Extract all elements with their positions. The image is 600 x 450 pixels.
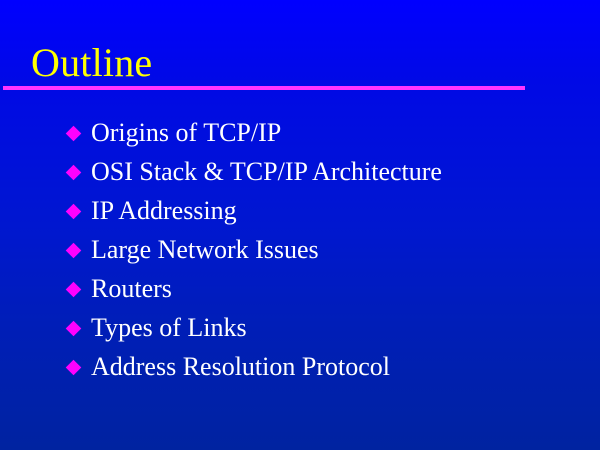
title-divider-rule [3,86,525,90]
page-title: Outline [31,40,152,86]
list-item: OSI Stack & TCP/IP Architecture [0,152,600,191]
list-item: Routers [0,269,600,308]
list-item: Types of Links [0,308,600,347]
list-item-label: Address Resolution Protocol [91,352,390,382]
list-item: Large Network Issues [0,230,600,269]
diamond-bullet-icon [66,359,82,375]
list-item-label: Origins of TCP/IP [91,118,281,148]
slide-title-block: Outline [0,40,600,90]
diamond-bullet-icon [66,125,82,141]
list-item-label: Types of Links [91,313,247,343]
diamond-bullet-icon [66,203,82,219]
list-item: Address Resolution Protocol [0,347,600,386]
list-item-label: OSI Stack & TCP/IP Architecture [91,157,442,187]
list-item: IP Addressing [0,191,600,230]
presentation-slide: Outline Origins of TCP/IP OSI Stack & TC… [0,0,600,450]
diamond-bullet-icon [66,281,82,297]
diamond-bullet-icon [66,320,82,336]
diamond-bullet-icon [66,242,82,258]
list-item: Origins of TCP/IP [0,113,600,152]
diamond-bullet-icon [66,164,82,180]
list-item-label: Routers [91,274,172,304]
list-item-label: Large Network Issues [91,235,319,265]
outline-bullet-list: Origins of TCP/IP OSI Stack & TCP/IP Arc… [0,113,600,386]
list-item-label: IP Addressing [91,196,237,226]
